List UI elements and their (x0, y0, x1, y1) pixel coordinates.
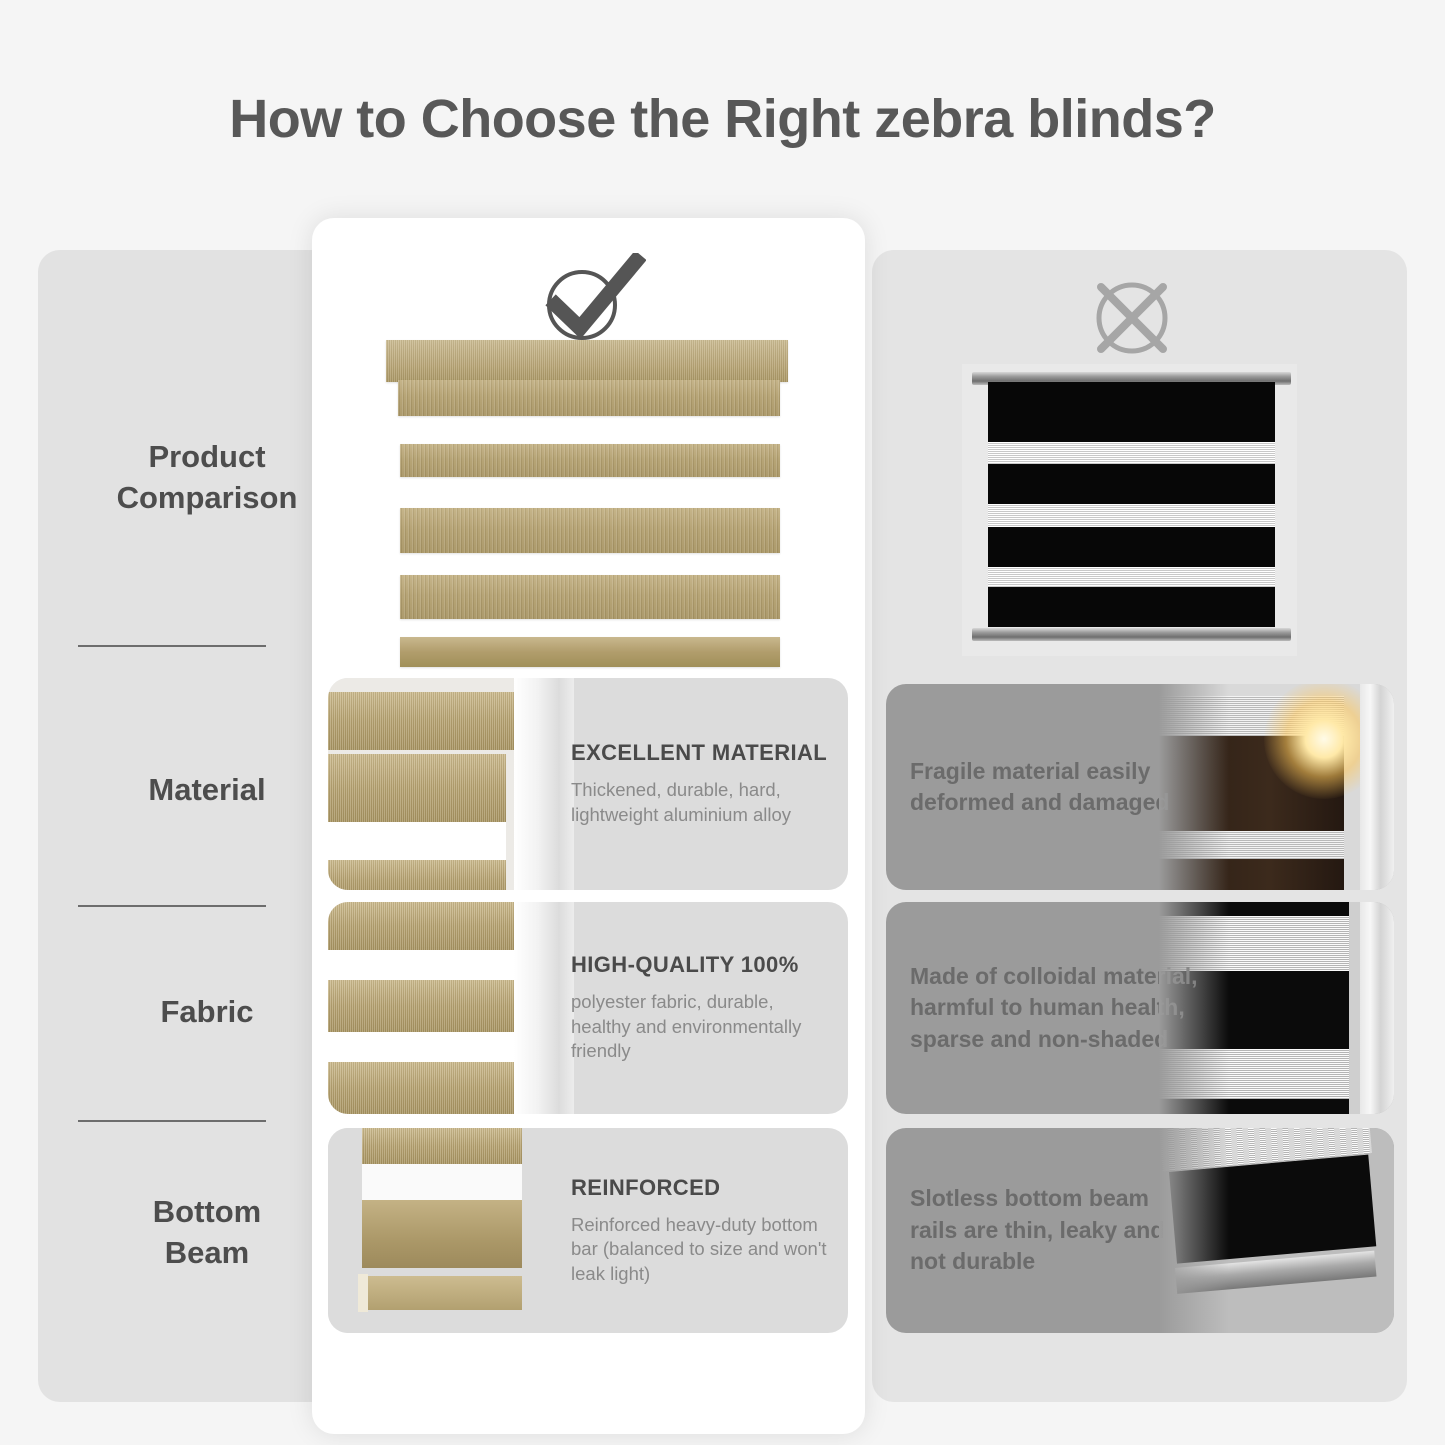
card-body: Thickened, durable, hard, lightweight al… (571, 778, 833, 827)
row-divider-1 (78, 645, 266, 647)
card-good-material: EXCELLENT MATERIAL Thickened, durable, h… (328, 678, 848, 890)
page-title: How to Choose the Right zebra blinds? (0, 88, 1445, 150)
card-image-good-bottom-beam (328, 1128, 574, 1333)
row-label-product-comparison: Product Comparison (52, 437, 362, 519)
row-label-bottom-beam: Bottom Beam (52, 1192, 362, 1274)
check-circle-icon (536, 253, 646, 345)
infographic-page: How to Choose the Right zebra blinds? Pr… (0, 0, 1445, 1445)
card-bad-fabric: Made of colloidal material, harmful to h… (886, 902, 1394, 1114)
card-title: REINFORCED (571, 1175, 833, 1201)
card-title: EXCELLENT MATERIAL (571, 740, 833, 766)
card-bad-material: Fragile material easily deformed and dam… (886, 684, 1394, 890)
row-label-fabric: Fabric (52, 992, 362, 1033)
row-label-line1: Product (52, 437, 362, 478)
cross-circle-icon (1086, 272, 1178, 364)
row-label-line1: Bottom (52, 1192, 362, 1233)
row-label-line2: Comparison (52, 478, 362, 519)
card-bad-bottom-beam: Slotless bottom beam rails are thin, lea… (886, 1128, 1394, 1333)
card-good-bottom-beam: REINFORCED Reinforced heavy-duty bottom … (328, 1128, 848, 1333)
card-body: Slotless bottom beam rails are thin, lea… (910, 1183, 1200, 1278)
row-label-line2: Beam (52, 1233, 362, 1274)
hero-image-bad-blind (962, 364, 1297, 656)
card-body: Made of colloidal material, harmful to h… (910, 961, 1200, 1056)
card-good-fabric: HIGH-QUALITY 100% polyester fabric, dura… (328, 902, 848, 1114)
card-image-good-fabric (328, 902, 574, 1114)
hero-image-good-blind (380, 340, 800, 670)
card-body: Reinforced heavy-duty bottom bar (balanc… (571, 1213, 833, 1287)
card-image-bad-material (1159, 684, 1394, 890)
card-body: polyester fabric, durable, healthy and e… (571, 990, 833, 1064)
row-divider-2 (78, 905, 266, 907)
card-image-bad-fabric (1159, 902, 1394, 1114)
card-image-good-material (328, 678, 574, 890)
row-divider-3 (78, 1120, 266, 1122)
card-body: Fragile material easily deformed and dam… (910, 756, 1200, 819)
card-image-bad-bottom-beam (1159, 1128, 1394, 1333)
card-title: HIGH-QUALITY 100% (571, 952, 833, 978)
row-label-material: Material (52, 770, 362, 811)
